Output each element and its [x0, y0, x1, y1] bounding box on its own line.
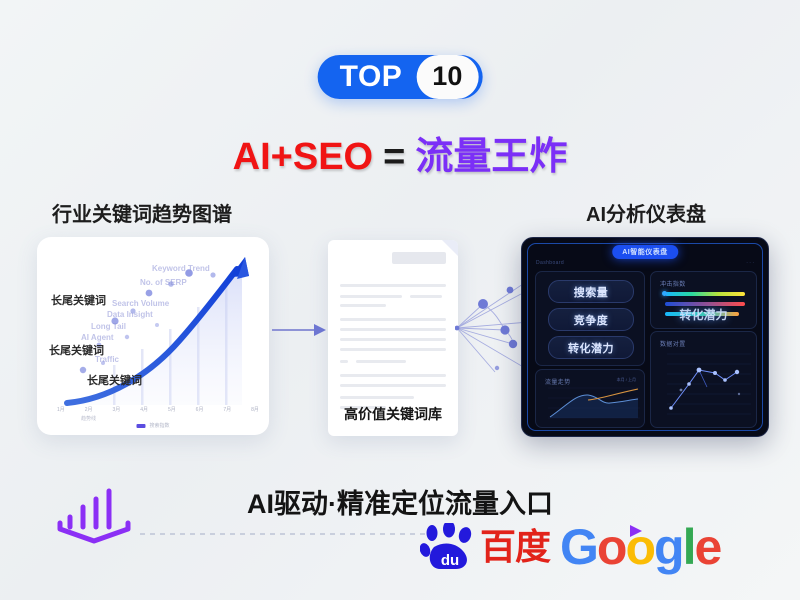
- baidu-du-text: du: [441, 552, 459, 569]
- x-tick: 1月: [57, 406, 65, 413]
- dashboard-menu-icon[interactable]: · · ·: [746, 260, 754, 266]
- document-text-line: [340, 360, 348, 363]
- document-text-line: [340, 348, 446, 351]
- document-text-line: [340, 384, 446, 387]
- ghost-keyword: Long Tail: [91, 322, 126, 331]
- document-text-line: [340, 328, 446, 331]
- impact-index-panel: 冲击指数 转化潜力: [650, 271, 757, 329]
- traffic-line-chart: [536, 370, 644, 427]
- play-marker-icon: [628, 524, 644, 538]
- document-text-line: [356, 360, 406, 363]
- chart-legend: 搜索指数: [136, 422, 169, 429]
- x-tick: 8月: [251, 406, 259, 413]
- document-text-line: [340, 304, 386, 307]
- dashed-connector-line: [140, 533, 440, 535]
- metric-pills-panel: 搜索量 竞争度 转化潜力: [535, 271, 645, 366]
- title-part-traffic: 流量王炸: [415, 136, 567, 178]
- legend-label: 搜索指数: [149, 422, 169, 429]
- baidu-logo: du 百度: [420, 523, 550, 571]
- traffic-trend-panel: 流量走势 本月 / 上月: [535, 369, 645, 428]
- ghost-keyword: Keyword Trend: [152, 264, 210, 273]
- metric-pill-competition[interactable]: 竞争度: [548, 308, 634, 331]
- x-tick: 5月: [168, 406, 176, 413]
- chart-x-axis-ticks: 1月 2月 3月 4月 5月 6月 7月 8月: [57, 406, 259, 413]
- ghost-keyword: Search Volume: [112, 299, 169, 308]
- ghost-keyword: Data Insight: [107, 310, 153, 319]
- chart-axis-note: 趋势线: [81, 415, 96, 422]
- metric-pill-search-volume[interactable]: 搜索量: [548, 280, 634, 303]
- panel-title: 冲击指数: [660, 279, 686, 288]
- x-tick: 2月: [85, 406, 93, 413]
- footer-tagline: AI驱动·精准定位流量入口: [0, 482, 800, 521]
- top-badge-word: TOP: [340, 62, 417, 92]
- x-tick: 7月: [223, 406, 231, 413]
- legend-swatch: [136, 424, 145, 428]
- title-equals-sign: =: [383, 136, 405, 178]
- scatter-line-chart: [651, 332, 756, 427]
- data-comparison-panel: 数据对置: [650, 331, 757, 428]
- conversion-potential-overlay: 转化潜力: [651, 306, 756, 323]
- title-part-ai-seo: AI+SEO: [233, 136, 373, 178]
- slide-canvas: TOP 10 AI+SEO=流量王炸 行业关键词趋势图谱 AI分析仪表盘: [0, 0, 800, 600]
- keyword-annotation: 长尾关键词: [51, 292, 106, 308]
- x-tick: 3月: [112, 406, 120, 413]
- right-section-caption: AI分析仪表盘: [586, 198, 706, 227]
- dashboard-title-badge: AI智能仪表盘: [612, 245, 678, 259]
- document-text-line: [340, 338, 446, 341]
- document-text-line: [340, 374, 446, 377]
- ai-dashboard-panel: AI智能仪表盘 Dashboard · · · 搜索量 竞争度 转化潜力 流量走…: [521, 237, 769, 437]
- ghost-keyword: AI Agent: [81, 333, 114, 342]
- baidu-chinese-text: 百度: [480, 529, 550, 565]
- google-letter: G: [560, 522, 597, 572]
- keyword-annotation: 长尾关键词: [87, 372, 142, 388]
- document-caption: 高价值关键词库: [328, 404, 458, 424]
- metric-pill-conversion[interactable]: 转化潜力: [548, 336, 634, 359]
- google-letter: g: [654, 522, 683, 572]
- document-text-line: [410, 295, 442, 298]
- gradient-bar-1-handle[interactable]: [662, 291, 667, 296]
- search-engine-logos: du 百度 G o o g l e: [420, 522, 720, 572]
- dashboard-brand-label: Dashboard: [536, 260, 564, 266]
- document-text-line: [340, 318, 446, 321]
- x-tick: 4月: [140, 406, 148, 413]
- flow-arrow-left-to-middle: [272, 320, 328, 340]
- left-section-caption: 行业关键词趋势图谱: [52, 198, 232, 227]
- google-letter: l: [683, 522, 695, 572]
- ghost-keyword: Traffic: [95, 355, 119, 364]
- gradient-bar-1: [665, 292, 745, 296]
- document-header-block: [392, 252, 446, 264]
- google-letter: e: [694, 522, 720, 572]
- x-tick: 6月: [196, 406, 204, 413]
- google-letter: o: [597, 522, 626, 572]
- document-text-line: [340, 295, 402, 298]
- top-badge-number: 10: [416, 55, 478, 99]
- page-title: AI+SEO=流量王炸: [0, 125, 800, 180]
- top-rank-badge: TOP 10: [318, 55, 483, 99]
- keyword-trend-card: 长尾关键词 长尾关键词 长尾关键词 Keyword Trend No. of S…: [37, 237, 269, 435]
- ghost-keyword: No. of SERP: [140, 278, 187, 287]
- baidu-paw-icon: du: [420, 523, 478, 571]
- document-text-line: [340, 396, 414, 399]
- document-text-line: [340, 284, 446, 287]
